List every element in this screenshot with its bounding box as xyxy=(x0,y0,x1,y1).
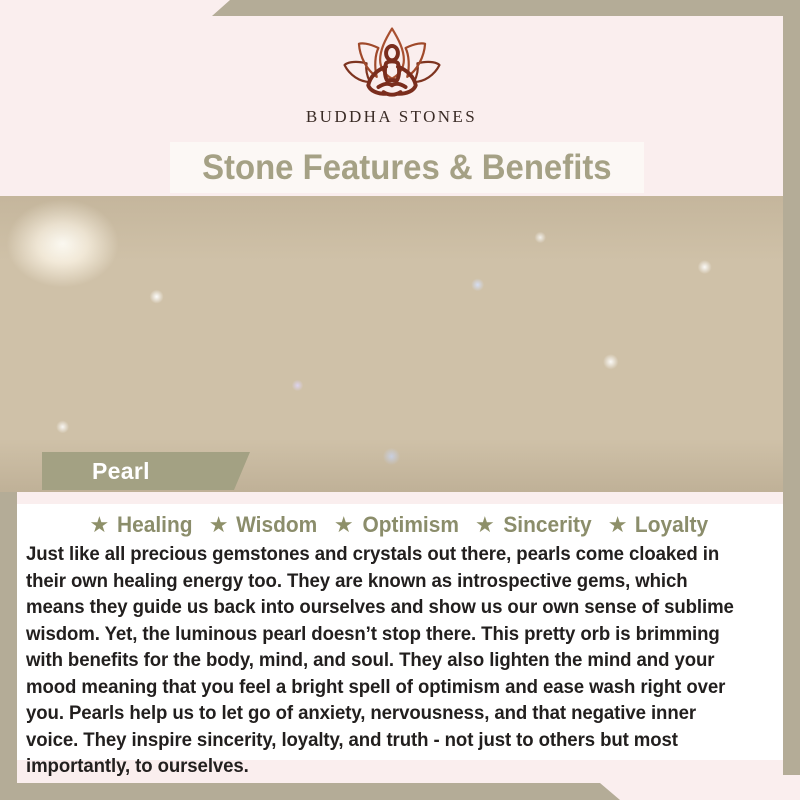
benefit-label: Loyalty xyxy=(635,512,708,538)
star-icon: ★ xyxy=(209,514,229,536)
star-icon: ★ xyxy=(90,514,110,536)
benefit-item-loyalty: ★ Loyalty xyxy=(608,512,711,538)
benefit-item-healing: ★ Healing xyxy=(90,512,195,538)
benefit-item-wisdom: ★ Wisdom xyxy=(209,512,320,538)
star-icon: ★ xyxy=(608,514,628,536)
benefit-label: Optimism xyxy=(362,512,458,538)
frame-right-bar xyxy=(783,0,800,775)
frame-bottom-bar xyxy=(0,783,620,800)
stone-description: Just like all precious gemstones and cry… xyxy=(26,541,740,780)
frame-left-bar xyxy=(0,492,17,800)
benefits-row: ★ Healing ★ Wisdom ★ Optimism ★ Sincerit… xyxy=(17,504,783,540)
brand-header: BUDDHA STONES xyxy=(0,16,783,144)
benefit-label: Healing xyxy=(117,512,192,538)
benefit-item-sincerity: ★ Sincerity xyxy=(475,512,594,538)
benefit-label: Sincerity xyxy=(503,512,591,538)
lotus-meditation-icon xyxy=(340,26,444,104)
content-panel: ★ Healing ★ Wisdom ★ Optimism ★ Sincerit… xyxy=(17,504,783,760)
frame-top-bar xyxy=(212,0,800,16)
page-title: Stone Features & Benefits xyxy=(202,148,612,188)
stone-name-label: Pearl xyxy=(92,458,150,485)
benefit-label: Wisdom xyxy=(237,512,318,538)
title-banner: Stone Features & Benefits xyxy=(170,142,644,193)
brand-name: BUDDHA STONES xyxy=(306,107,477,127)
poster-root: BUDDHA STONES Stone Features & Benefits … xyxy=(0,0,800,800)
star-icon: ★ xyxy=(334,514,354,536)
stone-name-tab: Pearl xyxy=(42,452,250,490)
benefit-item-optimism: ★ Optimism xyxy=(334,512,461,538)
star-icon: ★ xyxy=(475,514,495,536)
hero-photo-shading xyxy=(0,196,783,492)
hero-image xyxy=(0,196,783,492)
